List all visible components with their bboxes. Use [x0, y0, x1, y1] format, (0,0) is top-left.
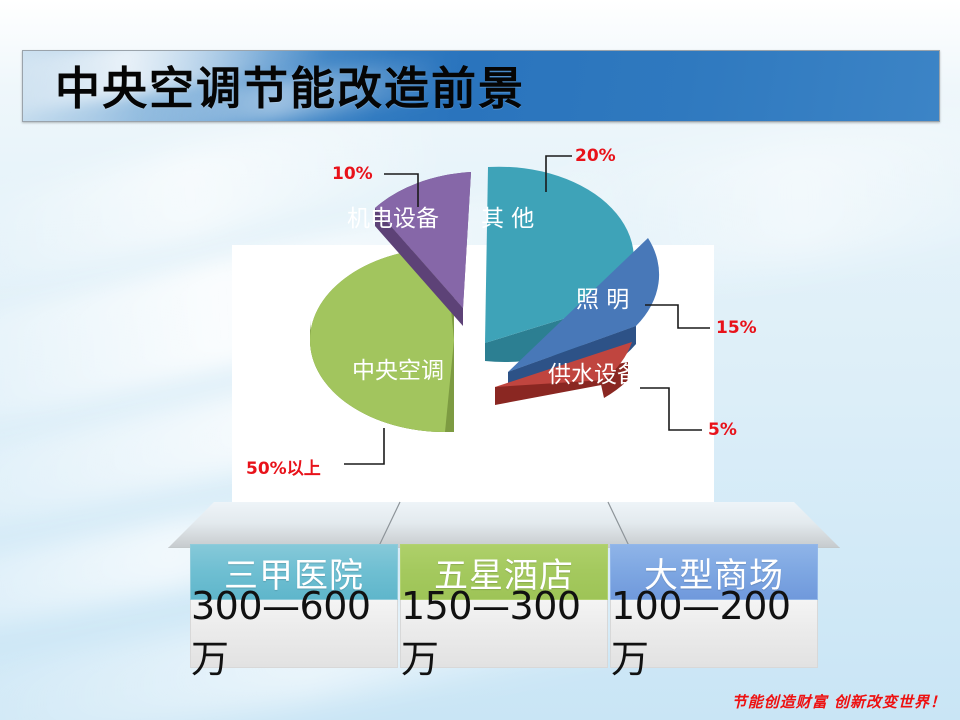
slide-canvas: 中央空调节能改造前景 — [0, 0, 960, 720]
table-column-hospital: 三甲医院 300—600万 — [190, 544, 398, 668]
table-column-hotel: 五星酒店 150—300万 — [400, 544, 608, 668]
slice-label-qita: 其 他 — [481, 206, 534, 232]
slice-label-zhongyangkongtiao: 中央空调 — [352, 358, 444, 384]
table-column-mall: 大型商场 100—200万 — [610, 544, 818, 668]
percent-label-zhongyangkongtiao: 50%以上 — [246, 454, 321, 479]
slice-label-jidianshebei: 机电设备 — [347, 206, 439, 232]
footer-slogan: 节能创造财富 创新改变世界！ — [732, 691, 946, 712]
percent-label-qita: 20% — [575, 146, 616, 166]
percent-label-jidianshebei: 10% — [332, 164, 373, 184]
page-title: 中央空调节能改造前景 — [55, 52, 525, 117]
table-3d-top-surface — [168, 500, 840, 548]
title-band: 中央空调节能改造前景 — [22, 50, 940, 122]
pie-chart: 中央空调 机电设备 其 他 照 明 供水设备 20% 10% 15% 5% 50… — [232, 130, 732, 510]
comparison-table: 三甲医院 300—600万 五星酒店 150—300万 大型商场 100—200… — [168, 500, 840, 675]
table-value-hospital: 300—600万 — [190, 600, 398, 668]
percent-label-zhaoming: 15% — [716, 318, 757, 338]
table-value-mall: 100—200万 — [610, 600, 818, 668]
slice-label-gongshuishebei: 供水设备 — [548, 362, 640, 388]
pie-chart-svg: 中央空调 机电设备 其 他 照 明 供水设备 — [232, 130, 732, 510]
percent-label-gongshuishebei: 5% — [708, 420, 737, 440]
table-value-hotel: 150—300万 — [400, 600, 608, 668]
table-columns: 三甲医院 300—600万 五星酒店 150—300万 大型商场 100—200… — [190, 544, 818, 668]
slice-label-zhaoming: 照 明 — [576, 287, 629, 313]
